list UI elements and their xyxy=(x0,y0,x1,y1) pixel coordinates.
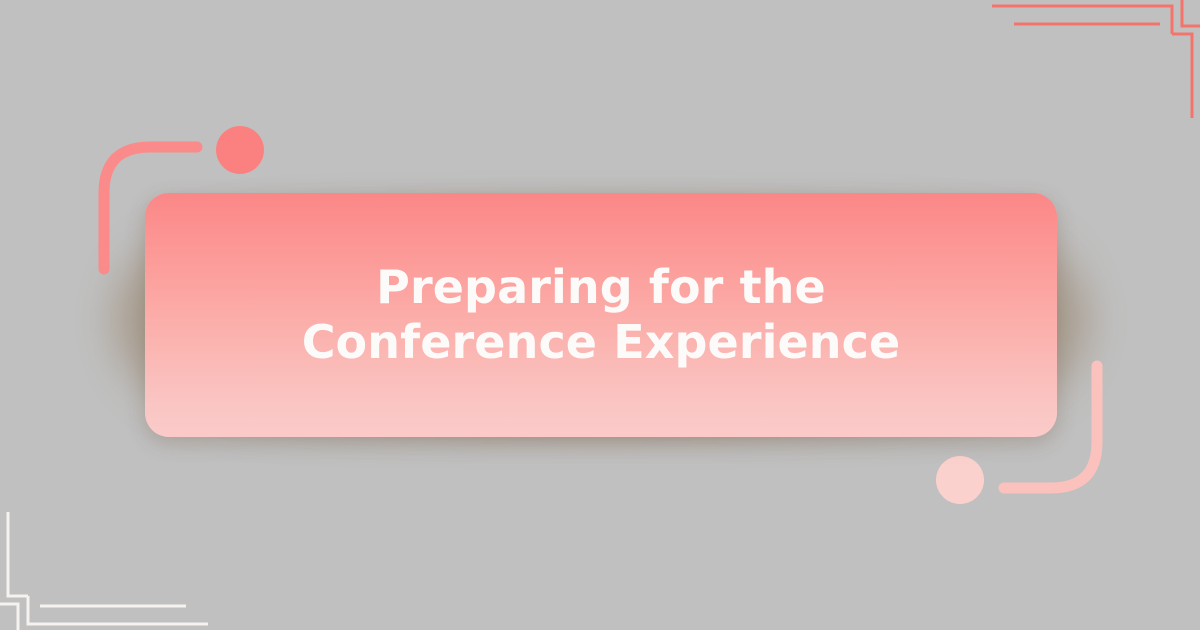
title-card: Preparing for the Conference Experience xyxy=(145,193,1057,437)
circuit-corner-bottom-left-icon xyxy=(0,512,208,630)
circuit-corner-decoration-top-right xyxy=(992,0,1200,118)
circle-decoration-bottom xyxy=(936,456,984,504)
slide-canvas: Preparing for the Conference Experience xyxy=(0,0,1200,630)
slide-title: Preparing for the Conference Experience xyxy=(237,260,965,370)
circuit-corner-top-right-icon xyxy=(992,0,1200,118)
circle-decoration-top xyxy=(216,126,264,174)
circuit-corner-decoration-bottom-left xyxy=(0,512,208,630)
